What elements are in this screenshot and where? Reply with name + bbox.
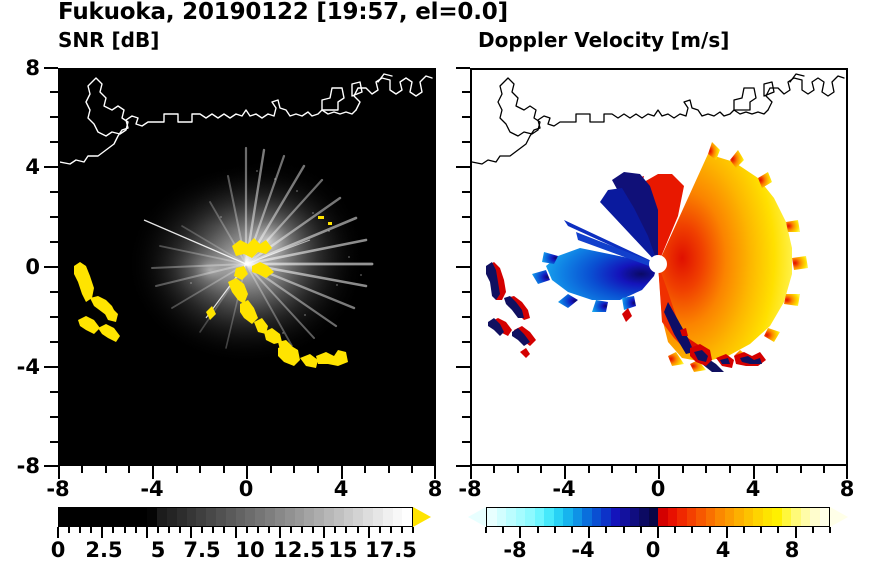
snr-cb-label-7p5: 7.5 [175, 538, 229, 562]
snr-xtick-4: 4 [316, 477, 366, 501]
colorbar-major-tick [190, 527, 192, 538]
colorbar-cell-32 [373, 508, 383, 526]
colorbar-cell-21 [265, 508, 275, 526]
colorbar-cell-31 [363, 508, 373, 526]
colorbar-cell-32 [791, 508, 801, 526]
colorbar-cell-12 [177, 508, 187, 526]
colorbar-cell-27 [324, 508, 334, 526]
colorbar-major-tick [57, 527, 59, 538]
colorbar-minor-tick [79, 527, 81, 533]
colorbar-cell-20 [677, 508, 687, 526]
colorbar-cell-26 [734, 508, 744, 526]
colorbar-cell-29 [344, 508, 354, 526]
colorbar-cell-27 [744, 508, 754, 526]
colorbar-cell-23 [285, 508, 295, 526]
colorbar-minor-tick [554, 527, 556, 533]
colorbar-cell-34 [393, 508, 403, 526]
doppler-colorbar-min-arrow [468, 507, 486, 527]
colorbar-cell-16 [216, 508, 226, 526]
colorbar-cell-33 [383, 508, 393, 526]
colorbar-cell-16 [639, 508, 649, 526]
colorbar-cell-1 [69, 508, 79, 526]
colorbar-cell-35 [402, 508, 412, 526]
colorbar-major-tick [279, 527, 281, 538]
doppler-plot-panel[interactable] [470, 68, 848, 466]
colorbar-minor-tick [334, 527, 336, 533]
snr-colorbar-gradient[interactable] [58, 507, 413, 527]
colorbar-cell-9 [573, 508, 583, 526]
snr-ytick-0: 0 [0, 255, 40, 279]
colorbar-cell-5 [535, 508, 545, 526]
colorbar-major-tick [519, 527, 521, 538]
doppler-cb-label-neg4: -4 [557, 538, 609, 562]
colorbar-cell-5 [108, 508, 118, 526]
colorbar-minor-tick [290, 527, 292, 533]
colorbar-minor-tick [157, 527, 159, 533]
colorbar-minor-tick [829, 527, 831, 533]
colorbar-major-tick [726, 527, 728, 538]
colorbar-minor-tick [623, 527, 625, 533]
colorbar-minor-tick [124, 527, 126, 533]
colorbar-minor-tick [674, 527, 676, 533]
colorbar-cell-30 [353, 508, 363, 526]
snr-radar-svg [60, 70, 434, 464]
snr-ytick-neg4: -4 [0, 355, 40, 379]
doppler-colorbar-ticks [486, 527, 830, 538]
colorbar-cell-24 [295, 508, 305, 526]
colorbar-cell-2 [506, 508, 516, 526]
colorbar-cell-30 [772, 508, 782, 526]
doppler-xtick-0: 0 [633, 477, 683, 501]
doppler-xtick-neg8: -8 [445, 477, 495, 501]
colorbar-cell-3 [88, 508, 98, 526]
colorbar-cell-8 [563, 508, 573, 526]
colorbar-cell-8 [138, 508, 148, 526]
colorbar-cell-14 [196, 508, 206, 526]
snr-ytick-8: 8 [0, 56, 40, 80]
colorbar-cell-2 [79, 508, 89, 526]
colorbar-cell-22 [696, 508, 706, 526]
colorbar-cell-35 [820, 508, 830, 526]
snr-cb-label-10: 10 [229, 538, 271, 562]
colorbar-minor-tick [223, 527, 225, 533]
doppler-plot-canvas [472, 70, 846, 464]
colorbar-minor-tick [760, 527, 762, 533]
colorbar-major-tick [146, 527, 148, 538]
colorbar-cell-17 [649, 508, 659, 526]
colorbar-cell-9 [147, 508, 157, 526]
colorbar-major-tick [235, 527, 237, 538]
colorbar-cell-19 [245, 508, 255, 526]
colorbar-cell-25 [304, 508, 314, 526]
colorbar-cell-34 [810, 508, 820, 526]
colorbar-cell-1 [497, 508, 507, 526]
snr-plot-panel[interactable] [58, 68, 436, 466]
doppler-colorbar-max-arrow [830, 507, 848, 527]
colorbar-minor-tick [812, 527, 814, 533]
colorbar-cell-6 [544, 508, 554, 526]
colorbar-cell-25 [725, 508, 735, 526]
colorbar-cell-18 [658, 508, 668, 526]
colorbar-major-tick [588, 527, 590, 538]
snr-colorbar-ticks [58, 527, 413, 538]
snr-cb-label-5: 5 [142, 538, 174, 562]
colorbar-minor-tick [90, 527, 92, 533]
doppler-cb-label-8: 8 [766, 538, 818, 562]
page-title: Fukuoka, 20190122 [19:57, el=0.0] [58, 0, 758, 25]
colorbar-cell-11 [167, 508, 177, 526]
colorbar-cell-10 [157, 508, 167, 526]
colorbar-minor-tick [301, 527, 303, 533]
colorbar-cell-12 [601, 508, 611, 526]
colorbar-cell-11 [592, 508, 602, 526]
colorbar-cell-23 [706, 508, 716, 526]
colorbar-major-tick [101, 527, 103, 538]
colorbar-cell-33 [801, 508, 811, 526]
colorbar-minor-tick [709, 527, 711, 533]
colorbar-minor-tick [571, 527, 573, 533]
colorbar-major-tick [657, 527, 659, 538]
snr-colorbar[interactable] [58, 507, 438, 527]
snr-colorbar-max-arrow [413, 507, 431, 527]
doppler-cb-label-4: 4 [697, 538, 749, 562]
colorbar-cell-6 [118, 508, 128, 526]
colorbar-minor-tick [640, 527, 642, 533]
colorbar-major-tick [368, 527, 370, 538]
doppler-colorbar-gradient[interactable] [486, 507, 830, 527]
colorbar-minor-tick [212, 527, 214, 533]
colorbar-cell-7 [554, 508, 564, 526]
snr-ytick-4: 4 [0, 155, 40, 179]
snr-plot-canvas [60, 70, 434, 464]
colorbar-cell-7 [128, 508, 138, 526]
colorbar-minor-tick [312, 527, 314, 533]
doppler-xtick-neg4: -4 [539, 477, 589, 501]
colorbar-minor-tick [68, 527, 70, 533]
colorbar-cell-14 [620, 508, 630, 526]
colorbar-cell-29 [763, 508, 773, 526]
colorbar-minor-tick [412, 527, 414, 533]
snr-xtick-neg8: -8 [33, 477, 83, 501]
doppler-xtick-8: 8 [822, 477, 870, 501]
colorbar-cell-15 [206, 508, 216, 526]
colorbar-cell-28 [334, 508, 344, 526]
colorbar-minor-tick [379, 527, 381, 533]
snr-cb-label-17p5: 17.5 [358, 538, 424, 562]
colorbar-minor-tick [135, 527, 137, 533]
doppler-cb-label-0: 0 [627, 538, 679, 562]
colorbar-cell-31 [782, 508, 792, 526]
colorbar-major-tick [795, 527, 797, 538]
colorbar-cell-4 [525, 508, 535, 526]
colorbar-minor-tick [179, 527, 181, 533]
colorbar-minor-tick [777, 527, 779, 533]
colorbar-cell-0 [59, 508, 69, 526]
panel-title-doppler: Doppler Velocity [m/s] [478, 28, 729, 52]
colorbar-cell-13 [187, 508, 197, 526]
colorbar-cell-0 [487, 508, 497, 526]
colorbar-minor-tick [502, 527, 504, 533]
colorbar-minor-tick [246, 527, 248, 533]
colorbar-minor-tick [257, 527, 259, 533]
colorbar-cell-28 [753, 508, 763, 526]
colorbar-minor-tick [201, 527, 203, 533]
colorbar-minor-tick [268, 527, 270, 533]
colorbar-cell-26 [314, 508, 324, 526]
colorbar-cell-17 [226, 508, 236, 526]
colorbar-major-tick [323, 527, 325, 538]
colorbar-minor-tick [485, 527, 487, 533]
snr-xtick-neg4: -4 [127, 477, 177, 501]
colorbar-minor-tick [743, 527, 745, 533]
colorbar-minor-tick [691, 527, 693, 533]
colorbar-minor-tick [605, 527, 607, 533]
colorbar-cell-21 [687, 508, 697, 526]
colorbar-cell-22 [275, 508, 285, 526]
colorbar-cell-4 [98, 508, 108, 526]
doppler-cb-label-neg8: -8 [489, 538, 541, 562]
colorbar-minor-tick [537, 527, 539, 533]
snr-cb-label-2p5: 2.5 [77, 538, 131, 562]
colorbar-cell-3 [516, 508, 526, 526]
colorbar-minor-tick [112, 527, 114, 533]
colorbar-cell-13 [611, 508, 621, 526]
colorbar-minor-tick [390, 527, 392, 533]
colorbar-cell-15 [630, 508, 640, 526]
doppler-radar-svg [472, 70, 846, 464]
doppler-xtick-4: 4 [728, 477, 778, 501]
panel-title-snr: SNR [dB] [58, 28, 159, 52]
colorbar-minor-tick [168, 527, 170, 533]
colorbar-cell-20 [255, 508, 265, 526]
colorbar-minor-tick [345, 527, 347, 533]
colorbar-cell-24 [715, 508, 725, 526]
colorbar-cell-19 [668, 508, 678, 526]
doppler-colorbar[interactable] [468, 507, 850, 527]
snr-ytick-neg8: -8 [0, 454, 40, 478]
colorbar-minor-tick [401, 527, 403, 533]
snr-cb-label-0: 0 [42, 538, 74, 562]
colorbar-minor-tick [357, 527, 359, 533]
colorbar-cell-18 [236, 508, 246, 526]
colorbar-cell-10 [582, 508, 592, 526]
snr-xtick-0: 0 [221, 477, 271, 501]
